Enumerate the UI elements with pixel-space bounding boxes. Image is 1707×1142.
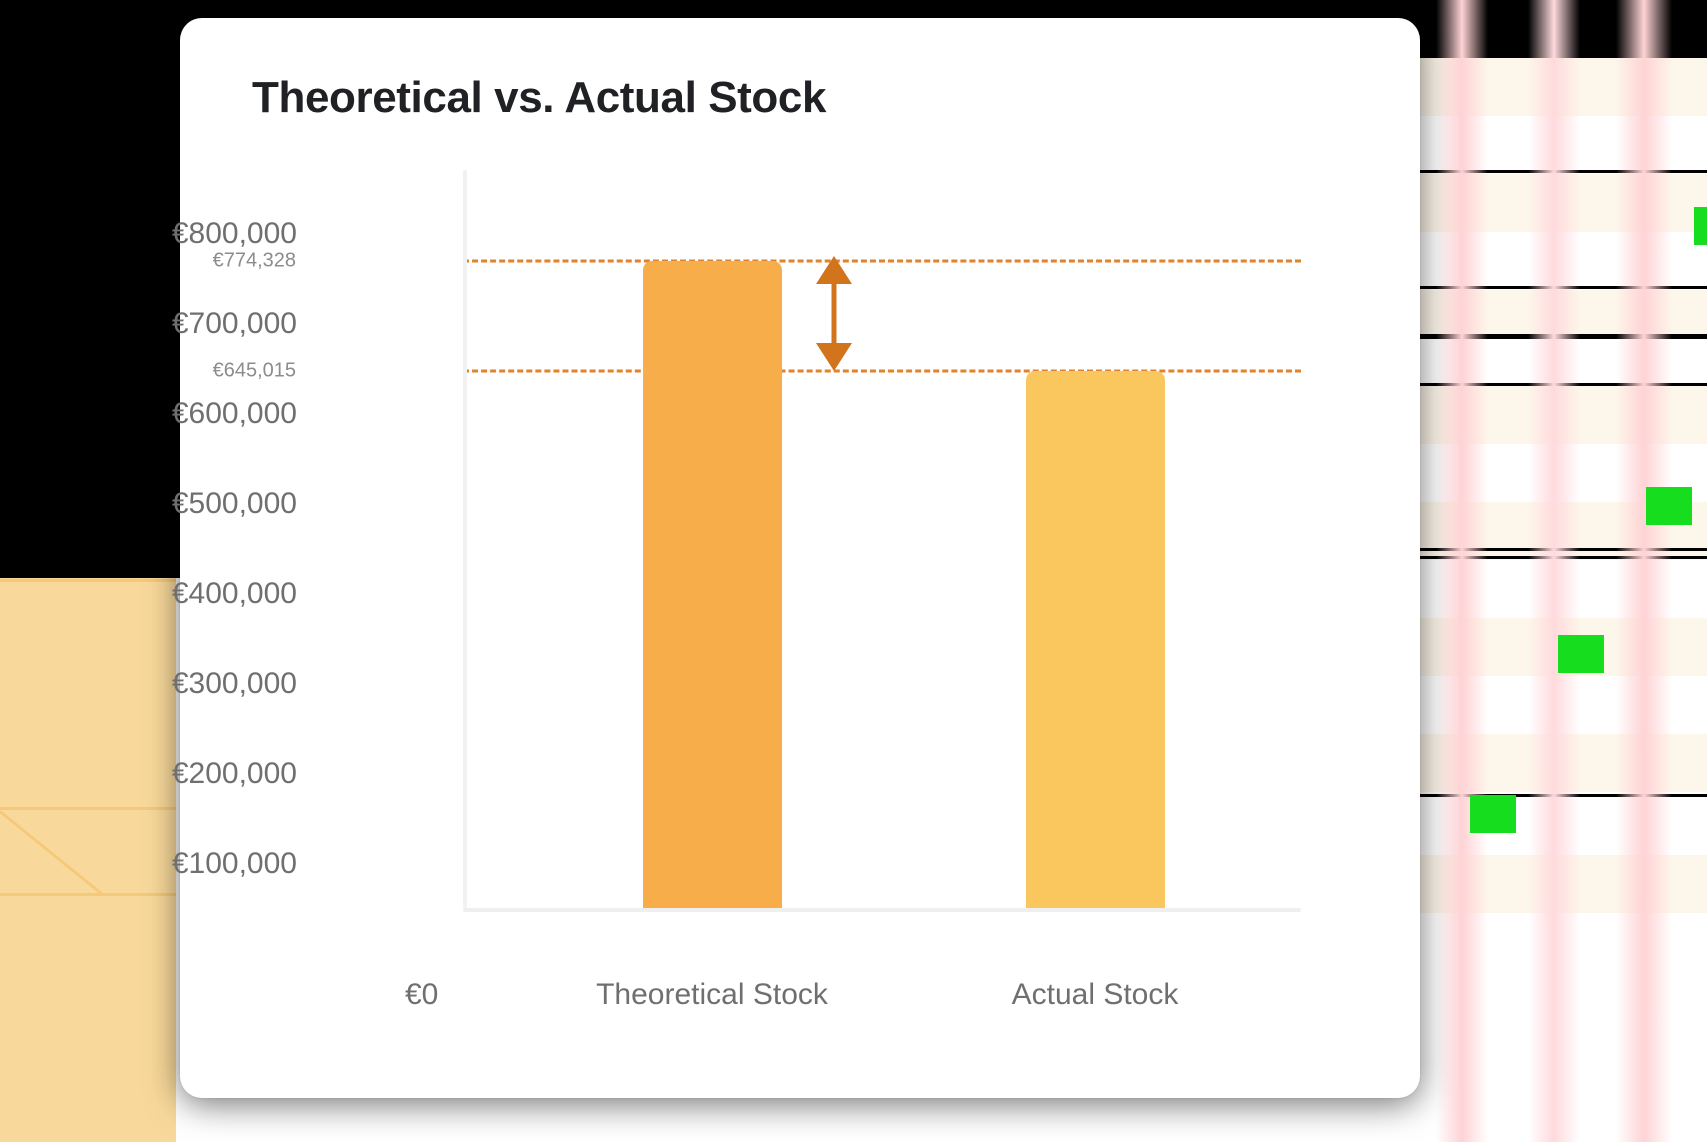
page-title: Theoretical vs. Actual Stock — [252, 73, 826, 123]
theoretical-value-label: €774,328 — [213, 250, 296, 273]
background-right-chart — [1406, 0, 1707, 1142]
x-label-actual-stock: Actual Stock — [1012, 978, 1179, 1012]
gap-double-arrow — [808, 256, 860, 371]
right-bar-2 — [1558, 635, 1604, 1142]
background-tan-panel — [0, 578, 176, 1142]
arrow-head-down-icon — [816, 343, 852, 371]
plot-area — [463, 170, 1301, 908]
tan-divider-mid — [0, 807, 176, 810]
y-tick-label: €800,000 — [172, 217, 297, 251]
background-black-left — [0, 0, 176, 578]
right-bar-4 — [1694, 207, 1707, 1142]
x-axis-line — [463, 908, 1301, 912]
bar-theoretical-stock[interactable] — [643, 261, 782, 908]
y-tick-label: €400,000 — [172, 577, 297, 611]
y-tick-label: €500,000 — [172, 487, 297, 521]
right-bar-1 — [1470, 795, 1516, 1142]
y-tick-label: €200,000 — [172, 757, 297, 791]
x-label-theoretical-stock: Theoretical Stock — [596, 978, 828, 1012]
envelope-flap-line — [0, 810, 104, 895]
y-tick-label: €300,000 — [172, 667, 297, 701]
chart-card: Theoretical vs. Actual Stock €0 €800,000… — [180, 18, 1420, 1098]
y-tick-label: €700,000 — [172, 307, 297, 341]
y-axis-line — [463, 170, 467, 908]
tan-divider-bottom — [0, 893, 176, 896]
bar-actual-stock[interactable] — [1026, 371, 1165, 908]
tan-divider-top — [0, 579, 176, 582]
y-tick-label: €600,000 — [172, 397, 297, 431]
y-tick-label: €100,000 — [172, 847, 297, 881]
y-axis-zero-label: €0 — [405, 978, 438, 1012]
right-bar-3 — [1646, 487, 1692, 1142]
actual-value-label: €645,015 — [213, 360, 296, 383]
